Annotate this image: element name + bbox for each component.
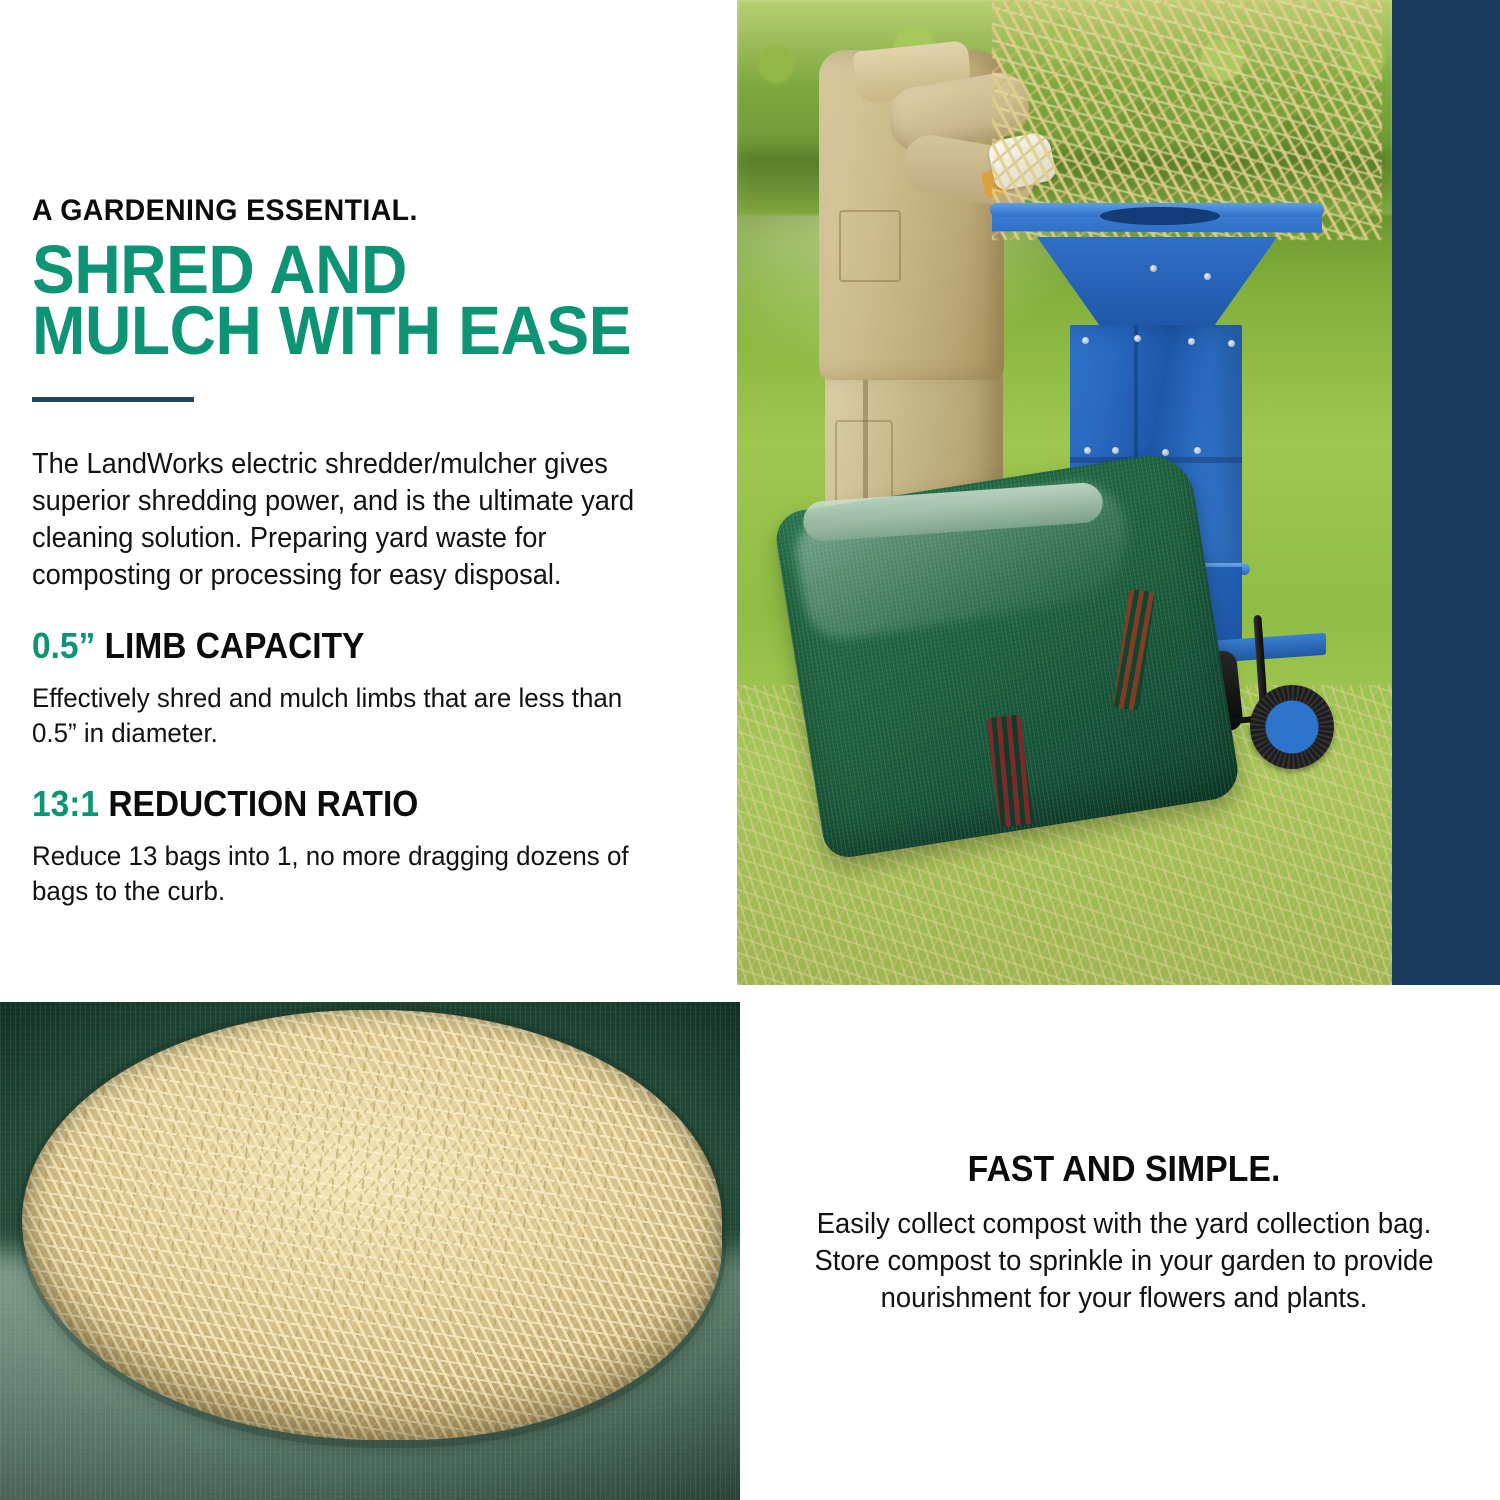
hopper-opening (1100, 207, 1220, 225)
feature-limb-capacity: 0.5” LIMB CAPACITY Effectively shred and… (32, 627, 697, 751)
wheel (1250, 685, 1334, 769)
eyebrow-text: A GARDENING ESSENTIAL. (32, 196, 664, 226)
mulch-pile-shadow (18, 1004, 726, 1448)
bolt-icon (1194, 447, 1201, 454)
headline-line-2: MULCH WITH EASE (32, 301, 650, 362)
bolt-icon (1084, 447, 1091, 454)
bolt-icon (1228, 340, 1235, 347)
hero-product-photo: LandWorks. (737, 0, 1392, 985)
bolt-icon (1082, 337, 1089, 344)
feature-limb-capacity-body: Effectively shred and mulch limbs that a… (32, 681, 670, 751)
bolt-icon (1204, 273, 1211, 280)
feature-reduction-ratio-body: Reduce 13 bags into 1, no more dragging … (32, 839, 670, 909)
bottom-copy-panel: FAST AND SIMPLE. Easily collect compost … (740, 1002, 1500, 1500)
hopper-funnel (1037, 237, 1277, 332)
feature-reduction-ratio-highlight: 13:1 (32, 783, 99, 824)
wheel-tread (1250, 685, 1334, 769)
feature-limb-capacity-highlight: 0.5” (32, 625, 95, 666)
person-chest-pocket (839, 210, 901, 282)
bottom-panel-body: Easily collect compost with the yard col… (798, 1206, 1451, 1317)
bolt-icon (1188, 338, 1195, 345)
navy-accent-strip (1392, 0, 1500, 985)
mulch-closeup-photo (0, 1002, 740, 1500)
feature-reduction-ratio-label: REDUCTION RATIO (99, 783, 418, 824)
feature-reduction-ratio-title: 13:1 REDUCTION RATIO (32, 785, 650, 823)
bottom-panel-title: FAST AND SIMPLE. (804, 1150, 1443, 1188)
left-copy-panel: A GARDENING ESSENTIAL. SHRED AND MULCH W… (0, 0, 737, 1000)
feature-limb-capacity-label: LIMB CAPACITY (95, 625, 364, 666)
infographic-page: A GARDENING ESSENTIAL. SHRED AND MULCH W… (0, 0, 1500, 1500)
bolt-icon (1134, 335, 1141, 342)
feature-limb-capacity-title: 0.5” LIMB CAPACITY (32, 627, 650, 665)
bolt-icon (1150, 265, 1157, 272)
divider-rule (32, 397, 194, 402)
bolt-icon (1112, 447, 1119, 454)
lead-paragraph: The LandWorks electric shredder/mulcher … (32, 446, 681, 593)
page-title: SHRED AND MULCH WITH EASE (32, 240, 650, 361)
person-leg-pocket (835, 420, 893, 506)
bolt-icon (1162, 449, 1169, 456)
feature-reduction-ratio: 13:1 REDUCTION RATIO Reduce 13 bags into… (32, 785, 697, 909)
